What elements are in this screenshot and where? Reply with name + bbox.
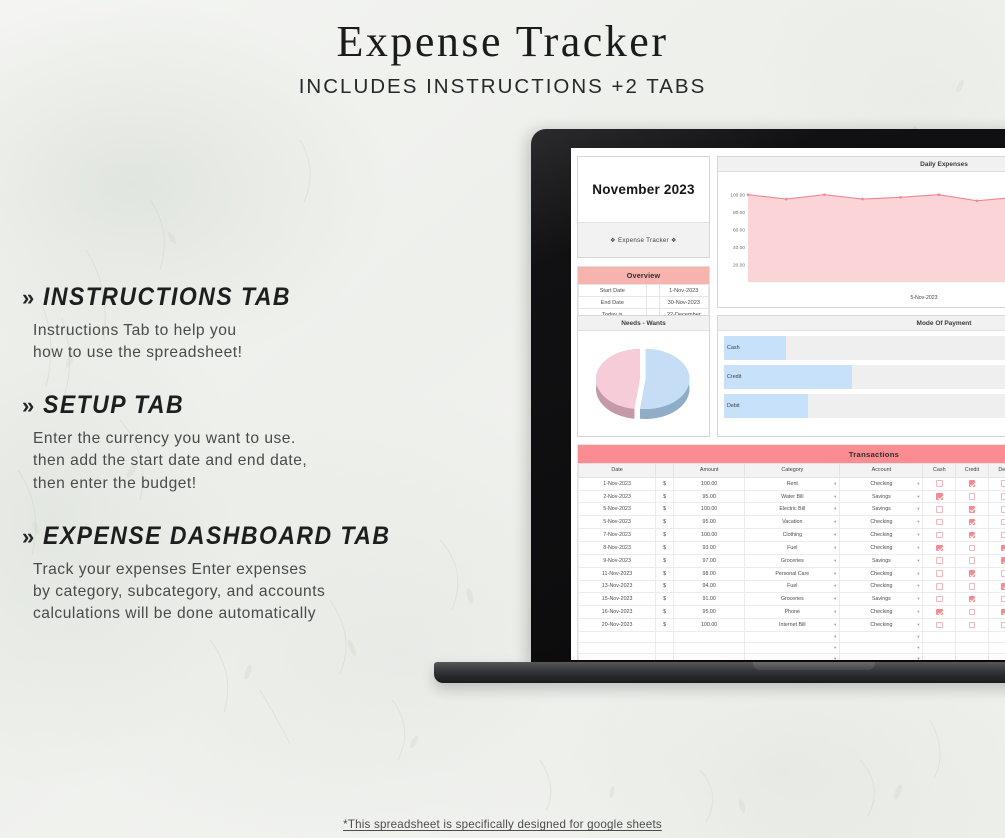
transactions-cell-category[interactable]: Vacation▾ (745, 516, 840, 529)
credit-checkbox[interactable] (969, 493, 976, 500)
transactions-cell-account[interactable]: Checking▾ (840, 619, 923, 632)
credit-checkbox[interactable] (969, 545, 976, 552)
chevron-down-icon[interactable]: ▾ (834, 519, 836, 525)
transactions-cell-date[interactable] (579, 653, 656, 660)
feature-line: calculations will be done automatically (33, 603, 422, 625)
transactions-cell-credit[interactable] (956, 580, 989, 593)
credit-checkbox[interactable] (969, 570, 976, 577)
table-row: 2-Nov-2023 $ 95.00 Water Bill▾ Savings▾ (579, 490, 1005, 503)
transactions-col-date: Date (579, 464, 656, 478)
transactions-col-cash: Cash (923, 464, 956, 478)
table-row: 9-Nov-2023 $ 97.00 Groceries▾ Savings▾ (579, 554, 1005, 567)
dashboard-second-row: Needs - Wants Mode Of Payment Cash Credi… (577, 315, 1005, 437)
feature-list: » INSTRUCTIONS TAB Instructions Tab to h… (22, 283, 422, 652)
cash-checkbox[interactable] (936, 596, 943, 603)
transactions-col-debit: Debit (988, 464, 1005, 478)
mode-of-payment-row: Cash (724, 336, 1005, 360)
table-row: 7-Nov-2023 $ 100.00 Clothing▾ Checking▾ (579, 529, 1005, 542)
debit-checkbox[interactable] (1001, 596, 1005, 603)
account-value: Checking (870, 519, 892, 525)
data-point (861, 198, 864, 201)
overview-row-label: Start Date (579, 285, 647, 297)
transactions-cell-currency: $ (656, 593, 674, 606)
account-value: Checking (870, 583, 892, 589)
transactions-cell-cash[interactable] (923, 516, 956, 529)
mode-of-payment-row: Credit (724, 365, 1005, 389)
month-label: November 2023 (578, 157, 709, 223)
chevron-down-icon[interactable]: ▾ (917, 634, 919, 640)
feature-description: Enter the currency you want to use.then … (33, 428, 422, 494)
table-row: ▾ ▾ (579, 642, 1005, 653)
feature-heading: » INSTRUCTIONS TAB (22, 283, 422, 312)
mode-of-payment-label: Cash (727, 345, 740, 351)
overview-row: Start Date 1-Nov-2023 (579, 285, 709, 297)
chevron-down-icon[interactable]: ▾ (917, 494, 919, 500)
debit-checkbox[interactable] (1001, 622, 1005, 629)
debit-checkbox[interactable] (1001, 583, 1005, 590)
transactions-cell-date[interactable] (579, 642, 656, 653)
chevron-down-icon[interactable]: ▾ (917, 481, 919, 487)
overview-row-label: End Date (579, 297, 647, 309)
transactions-cell-account[interactable]: ▾ (840, 631, 923, 642)
transactions-cell-amount[interactable]: 100.00 (674, 619, 745, 632)
transactions-cell-currency: $ (656, 516, 674, 529)
credit-checkbox[interactable] (969, 583, 976, 590)
category-value: Vacation (782, 519, 802, 525)
transactions-cell-date[interactable]: 1-Nov-2023 (579, 477, 656, 490)
chevron-down-icon[interactable]: ▾ (917, 571, 919, 577)
transactions-cell-date[interactable]: 7-Nov-2023 (579, 529, 656, 542)
transactions-cell-account[interactable]: Checking▾ (840, 529, 923, 542)
credit-checkbox[interactable] (969, 480, 976, 487)
feature-line: Enter the currency you want to use. (33, 428, 422, 450)
transactions-cell-date[interactable]: 13-Nov-2023 (579, 580, 656, 593)
transactions-cell-credit[interactable] (956, 554, 989, 567)
transactions-cell-category[interactable]: Clothing▾ (745, 529, 840, 542)
transactions-cell-credit[interactable] (956, 490, 989, 503)
feature-line: by category, subcategory, and accounts (33, 581, 422, 603)
mode-of-payment-chart-title: Mode Of Payment (718, 316, 1005, 331)
chevron-down-icon[interactable]: ▾ (834, 634, 836, 640)
transactions-cell-debit[interactable] (988, 642, 1005, 653)
transactions-cell-debit[interactable] (988, 516, 1005, 529)
left-column-top: November 2023 ❖ Expense Tracker ❖ Overvi… (577, 156, 710, 308)
transactions-col-credit: Credit (956, 464, 989, 478)
transactions-cell-amount[interactable]: 91.00 (674, 593, 745, 606)
laptop-mockup: November 2023 ❖ Expense Tracker ❖ Overvi… (531, 129, 1005, 709)
transactions-cell-account[interactable]: Checking▾ (840, 542, 923, 555)
chevron-down-icon[interactable]: ▾ (917, 519, 919, 525)
transactions-cell-date[interactable]: 20-Nov-2023 (579, 619, 656, 632)
chevron-down-icon[interactable]: ▾ (834, 596, 836, 602)
transactions-cell-debit[interactable] (988, 529, 1005, 542)
transactions-cell-account[interactable]: Checking▾ (840, 606, 923, 619)
credit-checkbox[interactable] (969, 557, 976, 564)
feature-description: Instructions Tab to help youhow to use t… (33, 320, 422, 364)
transactions-cell-cash[interactable] (923, 503, 956, 516)
feature-line: then add the start date and end date, (33, 450, 422, 472)
overview-row-value[interactable]: 30-Nov-2023 (659, 297, 708, 309)
x-axis-tick-label: 5-Nov-2023 (910, 295, 937, 301)
transactions-cell-category[interactable]: Electric Bill▾ (745, 503, 840, 516)
debit-checkbox[interactable] (1001, 519, 1005, 526)
transactions-cell-currency: $ (656, 542, 674, 555)
transactions-cell-cash[interactable] (923, 593, 956, 606)
laptop-trackpad-notch (753, 662, 875, 670)
feature-description: Track your expenses Enter expensesby cat… (33, 559, 422, 625)
transactions-col-amount: Amount (674, 464, 745, 478)
y-axis-tick-label: 20.00 (733, 262, 745, 268)
transactions-cell-amount[interactable]: 95.00 (674, 490, 745, 503)
chevron-down-icon[interactable]: ▾ (917, 645, 919, 651)
transactions-cell-currency (656, 642, 674, 653)
chevron-down-icon[interactable]: ▾ (834, 532, 836, 538)
laptop-screen-bezel: November 2023 ❖ Expense Tracker ❖ Overvi… (531, 129, 1005, 667)
dashboard-top-row: November 2023 ❖ Expense Tracker ❖ Overvi… (577, 156, 1005, 308)
feature-line: then enter the budget! (33, 473, 422, 495)
transactions-cell-debit[interactable] (988, 542, 1005, 555)
account-value: Savings (872, 558, 891, 564)
transactions-cell-credit[interactable] (956, 477, 989, 490)
data-point (976, 200, 979, 203)
feature-line: how to use the spreadsheet! (33, 342, 422, 364)
transactions-cell-credit[interactable] (956, 503, 989, 516)
transactions-cell-cash[interactable] (923, 529, 956, 542)
debit-checkbox[interactable] (1001, 570, 1005, 577)
transactions-cell-category[interactable]: Rent▾ (745, 477, 840, 490)
chevron-right-icon: » (22, 526, 34, 548)
cash-checkbox[interactable] (936, 506, 943, 513)
transactions-cell-cash[interactable] (923, 606, 956, 619)
feature-title: EXPENSE DASHBOARD TAB (43, 522, 390, 551)
transactions-cell-account[interactable]: Checking▾ (840, 580, 923, 593)
transactions-cell-debit[interactable] (988, 567, 1005, 580)
transactions-cell-account[interactable]: Savings▾ (840, 490, 923, 503)
transactions-cell-currency (656, 653, 674, 660)
transactions-cell-amount[interactable]: 95.00 (674, 606, 745, 619)
laptop-display: November 2023 ❖ Expense Tracker ❖ Overvi… (571, 148, 1005, 660)
transactions-cell-amount[interactable] (674, 653, 745, 660)
transactions-cell-cash[interactable] (923, 631, 956, 642)
transactions-cell-debit[interactable] (988, 631, 1005, 642)
category-value: Phone (785, 609, 800, 615)
mode-of-payment-bars: Cash Credit Debit (718, 336, 1005, 418)
transactions-cell-amount[interactable]: 100.00 (674, 477, 745, 490)
credit-checkbox[interactable] (969, 622, 976, 629)
transactions-cell-category[interactable]: Groceries▾ (745, 554, 840, 567)
needs-wants-pie-svg (578, 331, 711, 436)
transactions-cell-cash[interactable] (923, 542, 956, 555)
footnote: *This spreadsheet is specifically design… (0, 818, 1005, 831)
transactions-cell-account[interactable]: Savings▾ (840, 503, 923, 516)
feature-block-2: » SETUP TAB Enter the currency you want … (22, 391, 422, 494)
transactions-col-account: Account (840, 464, 923, 478)
debit-checkbox[interactable] (1001, 545, 1005, 552)
cash-checkbox[interactable] (936, 557, 943, 564)
chevron-down-icon[interactable]: ▾ (834, 622, 836, 628)
overview-row-value[interactable]: 1-Nov-2023 (659, 285, 708, 297)
table-row: ▾ ▾ (579, 631, 1005, 642)
transactions-cell-category[interactable]: Internet Bill▾ (745, 619, 840, 632)
transactions-cell-cash[interactable] (923, 477, 956, 490)
footnote-text: *This spreadsheet is specifically design… (343, 818, 662, 831)
chevron-down-icon[interactable]: ▾ (917, 622, 919, 628)
transactions-cell-amount[interactable] (674, 642, 745, 653)
expense-tracker-label: ❖ Expense Tracker ❖ (578, 223, 709, 257)
transactions-cell-cash[interactable] (923, 554, 956, 567)
feature-line: Instructions Tab to help you (33, 320, 422, 342)
transactions-cell-account[interactable]: Savings▾ (840, 554, 923, 567)
debit-checkbox[interactable] (1001, 493, 1005, 500)
credit-checkbox[interactable] (969, 532, 976, 539)
transactions-cell-category[interactable]: Phone▾ (745, 606, 840, 619)
feature-block-3: » EXPENSE DASHBOARD TAB Track your expen… (22, 522, 422, 625)
transactions-card: Transactions DateAmountCategoryAccountCa… (577, 444, 1005, 660)
transactions-cell-debit[interactable] (988, 606, 1005, 619)
table-row: 5-Nov-2023 $ 100.00 Electric Bill▾ Savin… (579, 503, 1005, 516)
transactions-cell-debit[interactable] (988, 554, 1005, 567)
category-value: Water Bill (781, 494, 803, 500)
transactions-cell-account[interactable]: Checking▾ (840, 567, 923, 580)
mode-of-payment-row: Debit (724, 394, 1005, 418)
transactions-cell-date[interactable]: 2-Nov-2023 (579, 490, 656, 503)
needs-wants-chart-title: Needs - Wants (578, 316, 709, 331)
transactions-cell-currency: $ (656, 567, 674, 580)
transactions-cell-category[interactable]: ▾ (745, 631, 840, 642)
data-point (938, 193, 941, 196)
spreadsheet-app: November 2023 ❖ Expense Tracker ❖ Overvi… (571, 148, 1005, 660)
data-point (785, 198, 788, 201)
transactions-cell-currency: $ (656, 554, 674, 567)
transactions-cell-cash[interactable] (923, 580, 956, 593)
debit-checkbox[interactable] (1001, 506, 1005, 513)
transactions-cell-cash[interactable] (923, 619, 956, 632)
transactions-col-currency (656, 464, 674, 478)
table-row: 1-Nov-2023 $ 100.00 Rent▾ Checking▾ (579, 477, 1005, 490)
overview-heading: Overview (578, 267, 709, 284)
debit-checkbox[interactable] (1001, 557, 1005, 564)
transactions-cell-debit[interactable] (988, 653, 1005, 660)
debit-checkbox[interactable] (1001, 532, 1005, 539)
table-row: 8-Nov-2023 $ 93.00 Fuel▾ Checking▾ (579, 542, 1005, 555)
transactions-cell-date[interactable]: 5-Nov-2023 (579, 516, 656, 529)
chevron-down-icon[interactable]: ▾ (917, 583, 919, 589)
daily-expenses-plot: 20.0040.0060.0080.00100.00 5-Nov-2023 (718, 172, 1005, 308)
chevron-down-icon[interactable]: ▾ (834, 583, 836, 589)
feature-heading: » EXPENSE DASHBOARD TAB (22, 522, 422, 551)
transactions-cell-category[interactable]: ▾ (745, 653, 840, 660)
transactions-table: DateAmountCategoryAccountCashCreditDebit… (578, 463, 1005, 660)
overview-row: End Date 30-Nov-2023 (579, 297, 709, 309)
transactions-cell-currency: $ (656, 490, 674, 503)
chevron-down-icon[interactable]: ▾ (834, 656, 836, 660)
transactions-cell-amount[interactable] (674, 631, 745, 642)
credit-checkbox[interactable] (969, 519, 976, 526)
data-point (747, 193, 750, 196)
transactions-cell-credit[interactable] (956, 542, 989, 555)
cash-checkbox[interactable] (936, 570, 943, 577)
transactions-cell-credit[interactable] (956, 593, 989, 606)
chevron-down-icon[interactable]: ▾ (834, 645, 836, 651)
transactions-cell-date[interactable]: 16-Nov-2023 (579, 606, 656, 619)
transactions-cell-currency: $ (656, 529, 674, 542)
transactions-cell-date[interactable]: 5-Nov-2023 (579, 503, 656, 516)
transactions-cell-credit[interactable] (956, 642, 989, 653)
transactions-cell-amount[interactable]: 98.00 (674, 567, 745, 580)
transactions-cell-date[interactable]: 15-Nov-2023 (579, 593, 656, 606)
needs-wants-pie (578, 331, 709, 436)
table-row: ▾ ▾ (579, 653, 1005, 660)
overview-row-currency (646, 297, 659, 309)
chevron-down-icon[interactable]: ▾ (917, 545, 919, 551)
transactions-cell-account[interactable]: ▾ (840, 642, 923, 653)
transactions-cell-account[interactable]: Checking▾ (840, 516, 923, 529)
account-value: Savings (872, 494, 891, 500)
transactions-cell-debit[interactable] (988, 580, 1005, 593)
chevron-down-icon[interactable]: ▾ (834, 609, 836, 615)
mode-of-payment-bar (724, 365, 852, 389)
feature-title: SETUP TAB (43, 391, 184, 420)
transactions-cell-credit[interactable] (956, 606, 989, 619)
transactions-cell-amount[interactable]: 95.00 (674, 516, 745, 529)
transactions-cell-debit[interactable] (988, 593, 1005, 606)
cash-checkbox[interactable] (936, 622, 943, 629)
chevron-down-icon[interactable]: ▾ (834, 481, 836, 487)
transactions-cell-category[interactable]: Fuel▾ (745, 580, 840, 593)
category-value: Personal Care (775, 571, 809, 577)
chevron-down-icon[interactable]: ▾ (917, 656, 919, 660)
transactions-cell-cash[interactable] (923, 653, 956, 660)
credit-checkbox[interactable] (969, 596, 976, 603)
chevron-right-icon: » (22, 395, 34, 417)
account-value: Checking (870, 622, 892, 628)
transactions-cell-debit[interactable] (988, 490, 1005, 503)
area-fill (748, 195, 1005, 282)
account-value: Checking (870, 532, 892, 538)
transactions-cell-date[interactable] (579, 631, 656, 642)
credit-checkbox[interactable] (969, 506, 976, 513)
chevron-down-icon[interactable]: ▾ (834, 571, 836, 577)
transactions-cell-cash[interactable] (923, 567, 956, 580)
daily-expenses-svg: 20.0040.0060.0080.00100.00 5-Nov-2023 (718, 172, 1005, 308)
transactions-cell-category[interactable]: Personal Care▾ (745, 567, 840, 580)
transactions-cell-credit[interactable] (956, 619, 989, 632)
chevron-down-icon[interactable]: ▾ (917, 596, 919, 602)
month-title-card: November 2023 ❖ Expense Tracker ❖ (577, 156, 710, 258)
transactions-cell-credit[interactable] (956, 653, 989, 660)
y-axis-tick-label: 100.00 (730, 193, 745, 199)
transactions-header-row: DateAmountCategoryAccountCashCreditDebit… (579, 464, 1005, 478)
feature-title: INSTRUCTIONS TAB (43, 283, 291, 312)
transactions-cell-cash[interactable] (923, 642, 956, 653)
transactions-cell-date[interactable]: 8-Nov-2023 (579, 542, 656, 555)
chevron-down-icon[interactable]: ▾ (917, 558, 919, 564)
debit-checkbox[interactable] (1001, 480, 1005, 487)
chevron-down-icon[interactable]: ▾ (917, 609, 919, 615)
transactions-cell-account[interactable]: Checking▾ (840, 477, 923, 490)
debit-checkbox[interactable] (1001, 609, 1005, 616)
page-header: Expense Tracker INCLUDES INSTRUCTIONS +2… (0, 18, 1005, 99)
transactions-cell-currency: $ (656, 477, 674, 490)
credit-checkbox[interactable] (969, 609, 976, 616)
transactions-cell-account[interactable]: Savings▾ (840, 593, 923, 606)
cash-checkbox[interactable] (936, 480, 943, 487)
transactions-cell-category[interactable]: Water Bill▾ (745, 490, 840, 503)
transactions-cell-debit[interactable] (988, 503, 1005, 516)
transactions-cell-amount[interactable]: 97.00 (674, 554, 745, 567)
feature-line: Track your expenses Enter expenses (33, 559, 422, 581)
chevron-down-icon[interactable]: ▾ (834, 545, 836, 551)
transactions-cell-credit[interactable] (956, 567, 989, 580)
chevron-down-icon[interactable]: ▾ (834, 494, 836, 500)
cash-checkbox[interactable] (936, 519, 943, 526)
table-row: 15-Nov-2023 $ 91.00 Groceries▾ Savings▾ (579, 593, 1005, 606)
transactions-cell-currency: $ (656, 503, 674, 516)
transactions-cell-credit[interactable] (956, 631, 989, 642)
chevron-down-icon[interactable]: ▾ (834, 558, 836, 564)
transactions-cell-credit[interactable] (956, 516, 989, 529)
account-value: Checking (870, 571, 892, 577)
transactions-cell-category[interactable]: Fuel▾ (745, 542, 840, 555)
transactions-cell-cash[interactable] (923, 490, 956, 503)
transactions-cell-amount[interactable]: 100.00 (674, 529, 745, 542)
y-axis-tick-label: 60.00 (733, 227, 745, 233)
transactions-cell-date[interactable]: 9-Nov-2023 (579, 554, 656, 567)
chevron-down-icon[interactable]: ▾ (917, 506, 919, 512)
category-value: Internet Bill (779, 622, 806, 628)
chevron-down-icon[interactable]: ▾ (917, 532, 919, 538)
data-point (823, 193, 826, 196)
transactions-cell-date[interactable]: 11-Nov-2023 (579, 567, 656, 580)
category-value: Groceries (781, 558, 804, 564)
category-value: Electric Bill (779, 506, 805, 512)
cash-checkbox[interactable] (936, 545, 943, 552)
transactions-heading: Transactions (578, 445, 1005, 463)
mode-of-payment-label: Credit (727, 374, 741, 380)
transactions-cell-amount[interactable]: 94.00 (674, 580, 745, 593)
transactions-cell-category[interactable]: ▾ (745, 642, 840, 653)
transactions-cell-currency: $ (656, 580, 674, 593)
feature-heading: » SETUP TAB (22, 391, 422, 420)
category-value: Fuel (787, 545, 797, 551)
transactions-cell-currency: $ (656, 606, 674, 619)
table-row: 16-Nov-2023 $ 95.00 Phone▾ Checking▾ (579, 606, 1005, 619)
cash-checkbox[interactable] (936, 609, 943, 616)
chevron-down-icon[interactable]: ▾ (834, 506, 836, 512)
data-point (899, 196, 902, 199)
cash-checkbox[interactable] (936, 532, 943, 539)
transactions-cell-credit[interactable] (956, 529, 989, 542)
category-value: Groceries (781, 596, 804, 602)
transactions-cell-currency: $ (656, 619, 674, 632)
transactions-cell-debit[interactable] (988, 477, 1005, 490)
page-subtitle: INCLUDES INSTRUCTIONS +2 TABS (0, 75, 1005, 99)
table-row: 13-Nov-2023 $ 94.00 Fuel▾ Checking▾ (579, 580, 1005, 593)
table-row: 20-Nov-2023 $ 100.00 Internet Bill▾ Chec… (579, 619, 1005, 632)
transactions-cell-amount[interactable]: 100.00 (674, 503, 745, 516)
transactions-cell-amount[interactable]: 93.00 (674, 542, 745, 555)
category-value: Rent (787, 481, 798, 487)
category-value: Clothing (783, 532, 802, 538)
transactions-cell-debit[interactable] (988, 619, 1005, 632)
overview-row-currency (646, 285, 659, 297)
transactions-cell-category[interactable]: Groceries▾ (745, 593, 840, 606)
cash-checkbox[interactable] (936, 583, 943, 590)
table-row: 11-Nov-2023 $ 98.00 Personal Care▾ Check… (579, 567, 1005, 580)
needs-wants-chart-panel: Needs - Wants (577, 315, 710, 437)
transactions-cell-account[interactable]: ▾ (840, 653, 923, 660)
cash-checkbox[interactable] (936, 493, 943, 500)
